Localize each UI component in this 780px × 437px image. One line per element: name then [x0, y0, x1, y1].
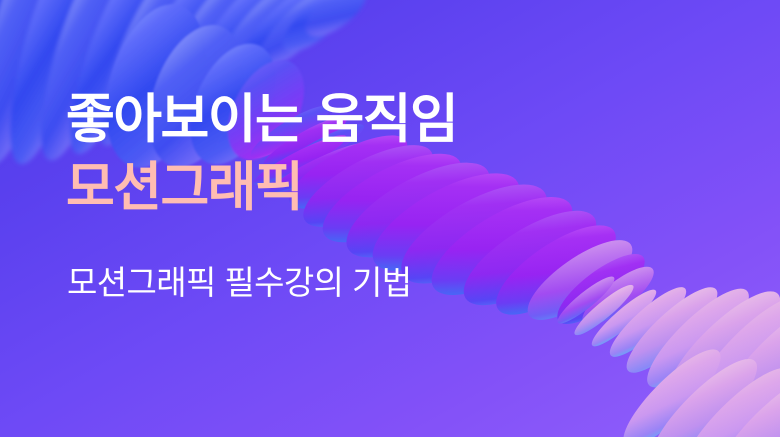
subtitle-text: 모션그래픽 필수강의 기법	[67, 262, 412, 304]
banner-text-layer: 좋아보이는 움직임 모션그래픽 모션그래픽 필수강의 기법	[0, 0, 780, 437]
promo-banner: 좋아보이는 움직임 모션그래픽 모션그래픽 필수강의 기법	[0, 0, 780, 437]
headline-line-1: 좋아보이는 움직임	[66, 86, 457, 154]
headline-block: 좋아보이는 움직임 모션그래픽	[66, 86, 457, 222]
headline-line-2-accent: 모션그래픽	[66, 154, 457, 222]
